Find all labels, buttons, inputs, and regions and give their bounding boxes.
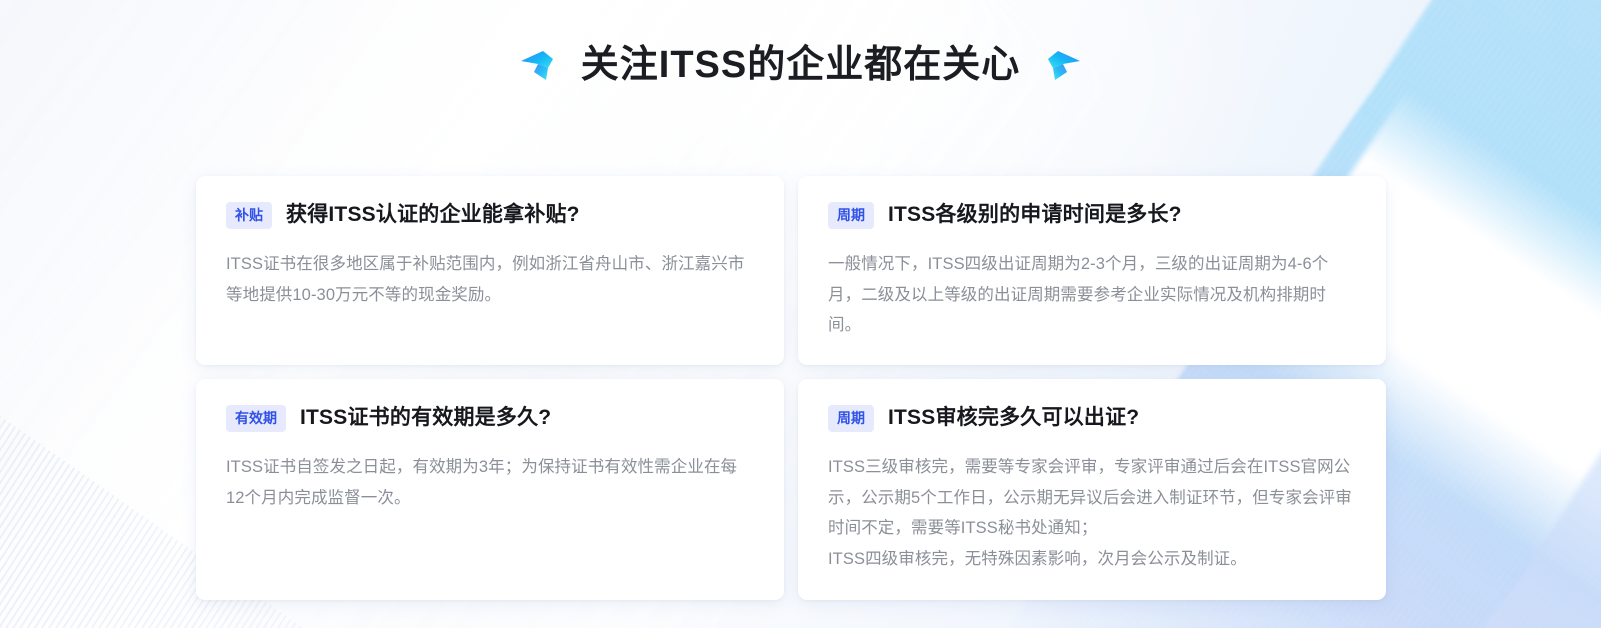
faq-question: ITSS审核完多久可以出证? xyxy=(888,405,1139,431)
faq-answer: ITSS证书在很多地区属于补贴范围内，例如浙江省舟山市、浙江嘉兴市等地提供10-… xyxy=(226,249,754,310)
faq-card[interactable]: 周期 ITSS各级别的申请时间是多长? 一般情况下，ITSS四级出证周期为2-3… xyxy=(798,176,1386,365)
category-badge: 补贴 xyxy=(226,202,272,229)
faq-section: 关注ITSS的企业都在关心 补贴 获得ITSS认证的企业能拿补贴? xyxy=(0,0,1601,628)
double-chevron-left-icon xyxy=(1042,44,1086,88)
category-badge: 周期 xyxy=(828,202,874,229)
faq-answer-paragraph: ITSS证书自签发之日起，有效期为3年；为保持证书有效性需企业在每12个月内完成… xyxy=(226,452,754,513)
faq-answer: ITSS三级审核完，需要等专家会评审，专家评审通过后会在ITSS官网公示，公示期… xyxy=(828,452,1356,574)
faq-card-grid: 补贴 获得ITSS认证的企业能拿补贴? ITSS证书在很多地区属于补贴范围内，例… xyxy=(196,176,1386,600)
faq-card-header: 周期 ITSS各级别的申请时间是多长? xyxy=(828,202,1356,229)
faq-card-header: 周期 ITSS审核完多久可以出证? xyxy=(828,405,1356,432)
faq-question: ITSS证书的有效期是多久? xyxy=(300,405,551,431)
faq-card[interactable]: 周期 ITSS审核完多久可以出证? ITSS三级审核完，需要等专家会评审，专家评… xyxy=(798,379,1386,600)
faq-answer: ITSS证书自签发之日起，有效期为3年；为保持证书有效性需企业在每12个月内完成… xyxy=(226,452,754,513)
faq-card-header: 补贴 获得ITSS认证的企业能拿补贴? xyxy=(226,202,754,229)
faq-card[interactable]: 有效期 ITSS证书的有效期是多久? ITSS证书自签发之日起，有效期为3年；为… xyxy=(196,379,784,600)
faq-card[interactable]: 补贴 获得ITSS认证的企业能拿补贴? ITSS证书在很多地区属于补贴范围内，例… xyxy=(196,176,784,365)
faq-answer-paragraph: ITSS三级审核完，需要等专家会评审，专家评审通过后会在ITSS官网公示，公示期… xyxy=(828,452,1356,544)
faq-card-header: 有效期 ITSS证书的有效期是多久? xyxy=(226,405,754,432)
faq-question: ITSS各级别的申请时间是多长? xyxy=(888,202,1182,228)
faq-answer-paragraph: 一般情况下，ITSS四级出证周期为2-3个月，三级的出证周期为4-6个月，二级及… xyxy=(828,249,1356,341)
category-badge: 周期 xyxy=(828,405,874,432)
faq-question: 获得ITSS认证的企业能拿补贴? xyxy=(286,202,580,228)
page-title: 关注ITSS的企业都在关心 xyxy=(581,43,1020,89)
double-chevron-right-icon xyxy=(515,44,559,88)
section-heading: 关注ITSS的企业都在关心 xyxy=(0,43,1601,89)
faq-answer-paragraph: ITSS证书在很多地区属于补贴范围内，例如浙江省舟山市、浙江嘉兴市等地提供10-… xyxy=(226,249,754,310)
faq-answer-paragraph-secondary: ITSS四级审核完，无特殊因素影响，次月会公示及制证。 xyxy=(828,544,1356,575)
faq-answer: 一般情况下，ITSS四级出证周期为2-3个月，三级的出证周期为4-6个月，二级及… xyxy=(828,249,1356,341)
category-badge: 有效期 xyxy=(226,405,286,432)
